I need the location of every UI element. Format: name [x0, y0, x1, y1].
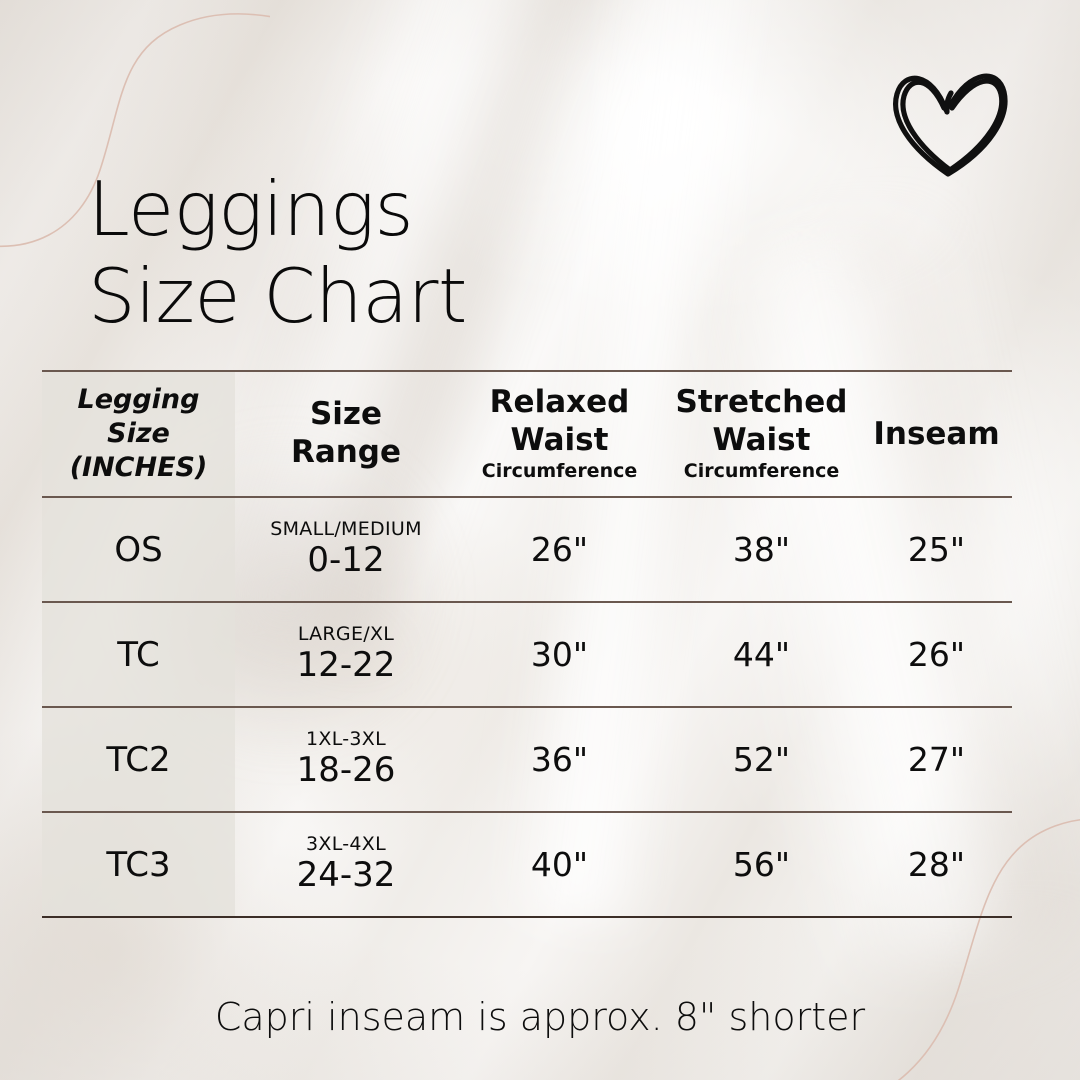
cell-legging-size: OS: [42, 497, 235, 602]
cell-stretched-waist: 38": [662, 497, 861, 602]
cell-inseam: 26": [861, 602, 1012, 707]
cell-relaxed-waist: 36": [457, 707, 662, 812]
footer-note: Capri inseam is approx. 8" shorter: [0, 995, 1080, 1039]
column-header-legging-size-line2: (INCHES): [70, 452, 208, 483]
column-header-relaxed-waist: Relaxed Waist Circumference: [457, 371, 662, 497]
cell-legging-size: TC3: [42, 812, 235, 917]
column-header-relaxed-line2: Waist: [457, 422, 662, 459]
table-row: OS SMALL/MEDIUM 0-12 26" 38" 25": [42, 497, 1012, 602]
cell-relaxed-waist: 40": [457, 812, 662, 917]
cell-size-range-label: 3XL-4XL: [235, 834, 457, 855]
column-header-size-range-line1: Size: [310, 396, 382, 432]
table-header: Legging Size (INCHES) Size Range Relaxed…: [42, 371, 1012, 497]
cell-size-range-value: 24-32: [235, 856, 457, 895]
page-title: Leggings Size Chart: [88, 166, 467, 340]
cell-size-range-value: 18-26: [235, 751, 457, 790]
cell-inseam: 27": [861, 707, 1012, 812]
column-header-size-range: Size Range: [235, 371, 457, 497]
cell-relaxed-waist: 30": [457, 602, 662, 707]
column-header-legging-size-line1: Legging Size: [78, 384, 200, 449]
table-body: OS SMALL/MEDIUM 0-12 26" 38" 25" TC LARG…: [42, 497, 1012, 917]
table-row: TC LARGE/XL 12-22 30" 44" 26": [42, 602, 1012, 707]
column-header-stretched-line2: Waist: [662, 422, 861, 459]
table-row: TC2 1XL-3XL 18-26 36" 52" 27": [42, 707, 1012, 812]
column-header-stretched-waist: Stretched Waist Circumference: [662, 371, 861, 497]
table-row: TC3 3XL-4XL 24-32 40" 56" 28": [42, 812, 1012, 917]
cell-stretched-waist: 44": [662, 602, 861, 707]
cell-size-range-label: SMALL/MEDIUM: [235, 519, 457, 540]
cell-size-range-value: 0-12: [235, 541, 457, 580]
cell-size-range-value: 12-22: [235, 646, 457, 685]
page-title-line-2: Size Chart: [88, 253, 467, 340]
column-header-stretched-line1: Stretched: [662, 384, 861, 421]
column-header-relaxed-line1: Relaxed: [457, 384, 662, 421]
cell-inseam: 28": [861, 812, 1012, 917]
cell-relaxed-waist: 26": [457, 497, 662, 602]
cell-size-range: LARGE/XL 12-22: [235, 602, 457, 707]
cell-legging-size: TC: [42, 602, 235, 707]
cell-inseam: 25": [861, 497, 1012, 602]
cell-stretched-waist: 52": [662, 707, 861, 812]
column-header-legging-size: Legging Size (INCHES): [42, 371, 235, 497]
column-header-inseam: Inseam: [861, 371, 1012, 497]
cell-size-range-label: LARGE/XL: [235, 624, 457, 645]
cell-size-range: 3XL-4XL 24-32: [235, 812, 457, 917]
cell-size-range: 1XL-3XL 18-26: [235, 707, 457, 812]
column-header-relaxed-sub: Circumference: [457, 460, 662, 484]
column-header-size-range-line2: Range: [291, 434, 401, 470]
column-header-stretched-sub: Circumference: [662, 460, 861, 484]
cell-stretched-waist: 56": [662, 812, 861, 917]
cell-legging-size: TC2: [42, 707, 235, 812]
size-chart-table: Legging Size (INCHES) Size Range Relaxed…: [42, 370, 1012, 918]
page-title-line-1: Leggings: [88, 166, 467, 253]
cell-size-range: SMALL/MEDIUM 0-12: [235, 497, 457, 602]
table-header-row: Legging Size (INCHES) Size Range Relaxed…: [42, 371, 1012, 497]
cell-size-range-label: 1XL-3XL: [235, 729, 457, 750]
